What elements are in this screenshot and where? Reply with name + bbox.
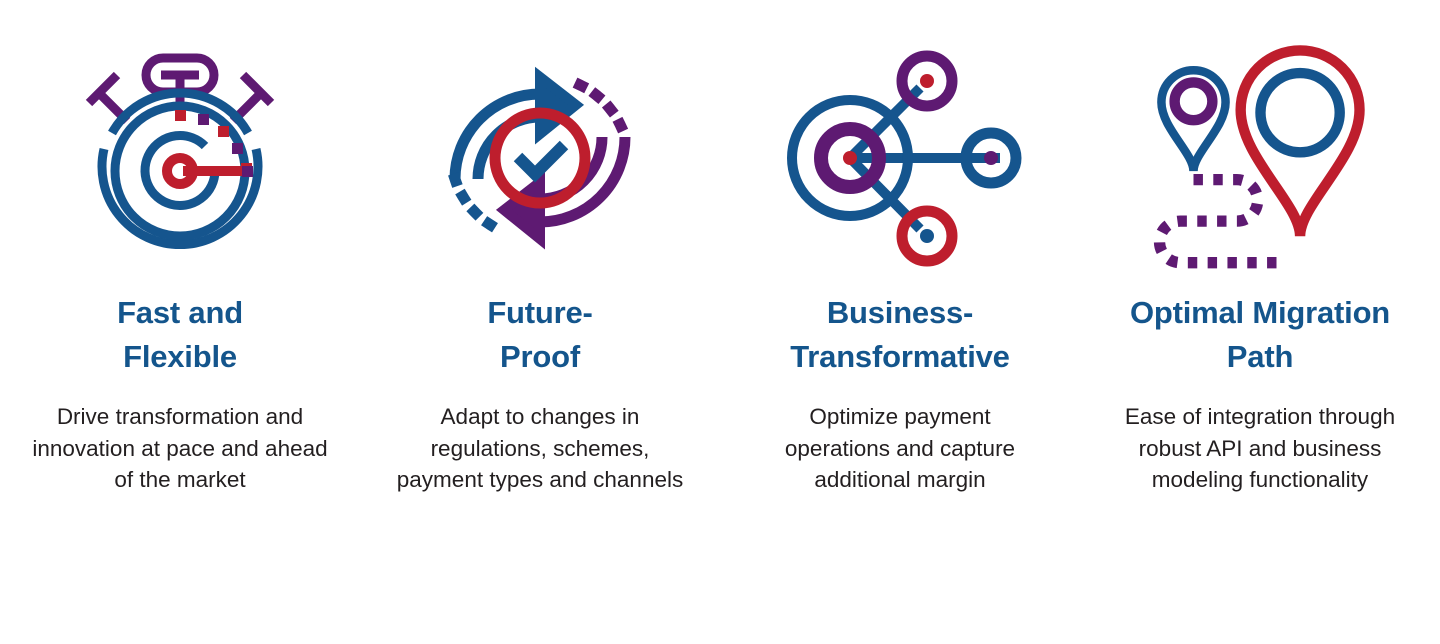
feature-card-business-transformative: Business-Transformative Optimize payment… [720, 0, 1080, 496]
feature-title: Fast and Flexible [73, 291, 288, 379]
feature-highlights-board: Fast and Flexible Drive transformation a… [0, 0, 1440, 644]
feature-description: Ease of integration through robust API a… [1110, 401, 1410, 496]
feature-title: Optimal Migration Path [1128, 291, 1393, 379]
refresh-cycle-check-icon [415, 34, 665, 279]
network-nodes-icon [775, 34, 1025, 279]
stopwatch-icon [55, 34, 305, 279]
feature-card-optimal-migration-path: Optimal Migration Path Ease of integrati… [1080, 0, 1440, 496]
feature-card-fast-and-flexible: Fast and Flexible Drive transformation a… [0, 0, 360, 496]
feature-title: Future-Proof [448, 291, 633, 379]
feature-card-future-proof: Future-Proof Adapt to changes in regulat… [360, 0, 720, 496]
map-pins-route-icon [1135, 34, 1385, 279]
feature-title: Business-Transformative [758, 291, 1043, 379]
feature-description: Optimize payment operations and capture … [758, 401, 1043, 496]
feature-description: Adapt to changes in regulations, schemes… [395, 401, 685, 496]
feature-description: Drive transformation and innovation at p… [30, 401, 330, 496]
